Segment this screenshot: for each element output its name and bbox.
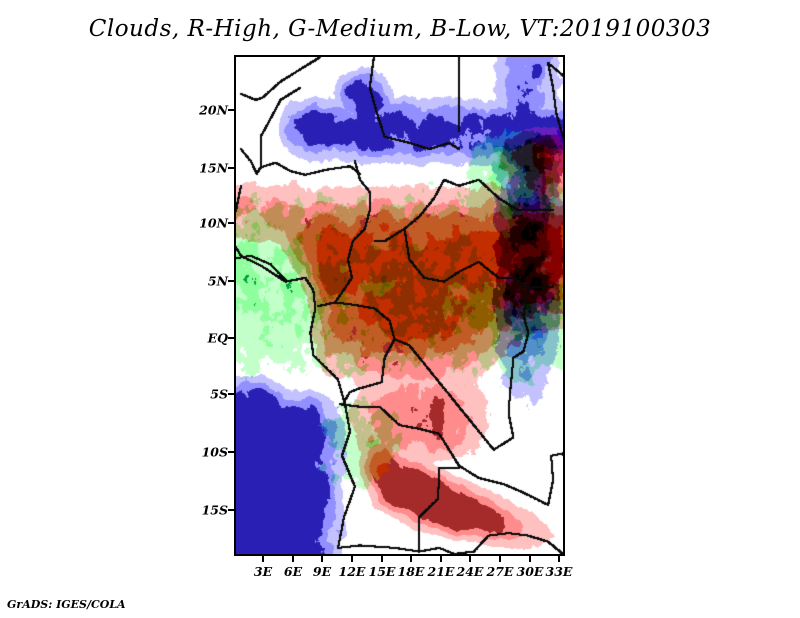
- x-tick-label-30e: 30E: [517, 564, 544, 579]
- page-title: Clouds, R-High, G-Medium, B-Low, VT:2019…: [0, 16, 800, 42]
- x-tick-label-3e: 3E: [254, 564, 272, 579]
- y-tick-label-5s: 5S: [188, 387, 228, 402]
- map-plot-frame: [234, 55, 565, 556]
- y-tick-mark: [228, 109, 234, 111]
- x-tick-label-12e: 12E: [339, 564, 366, 579]
- x-tick-mark: [381, 556, 383, 562]
- x-tick-mark: [351, 556, 353, 562]
- grads-plot-page: Clouds, R-High, G-Medium, B-Low, VT:2019…: [0, 0, 800, 618]
- y-tick-mark: [228, 167, 234, 169]
- x-tick-mark: [262, 556, 264, 562]
- y-tick-label-5n: 5N: [188, 274, 228, 289]
- x-tick-label-9e: 9E: [313, 564, 331, 579]
- y-tick-label-20n: 20N: [188, 103, 228, 118]
- x-tick-mark: [292, 556, 294, 562]
- x-tick-mark: [440, 556, 442, 562]
- y-tick-mark: [228, 393, 234, 395]
- y-tick-label-10n: 10N: [188, 216, 228, 231]
- y-tick-label-eq: EQ: [188, 331, 228, 346]
- x-tick-label-6e: 6E: [284, 564, 302, 579]
- y-tick-label-10s: 10S: [188, 445, 228, 460]
- x-tick-mark: [529, 556, 531, 562]
- y-tick-mark: [228, 280, 234, 282]
- x-tick-mark: [410, 556, 412, 562]
- x-tick-label-21e: 21E: [428, 564, 455, 579]
- y-tick-mark: [228, 222, 234, 224]
- x-tick-label-27e: 27E: [487, 564, 514, 579]
- x-tick-mark: [558, 556, 560, 562]
- x-tick-mark: [469, 556, 471, 562]
- cloud-composite-map: [236, 57, 563, 554]
- y-tick-label-15n: 15N: [188, 161, 228, 176]
- x-tick-label-33e: 33E: [546, 564, 573, 579]
- y-tick-label-15s: 15S: [188, 503, 228, 518]
- x-tick-label-15e: 15E: [369, 564, 396, 579]
- y-tick-mark: [228, 337, 234, 339]
- x-tick-label-18e: 18E: [398, 564, 425, 579]
- y-tick-mark: [228, 451, 234, 453]
- y-tick-mark: [228, 509, 234, 511]
- x-tick-label-24e: 24E: [457, 564, 484, 579]
- x-tick-mark: [499, 556, 501, 562]
- x-tick-mark: [321, 556, 323, 562]
- grads-credit: GrADS: IGES/COLA: [7, 598, 126, 611]
